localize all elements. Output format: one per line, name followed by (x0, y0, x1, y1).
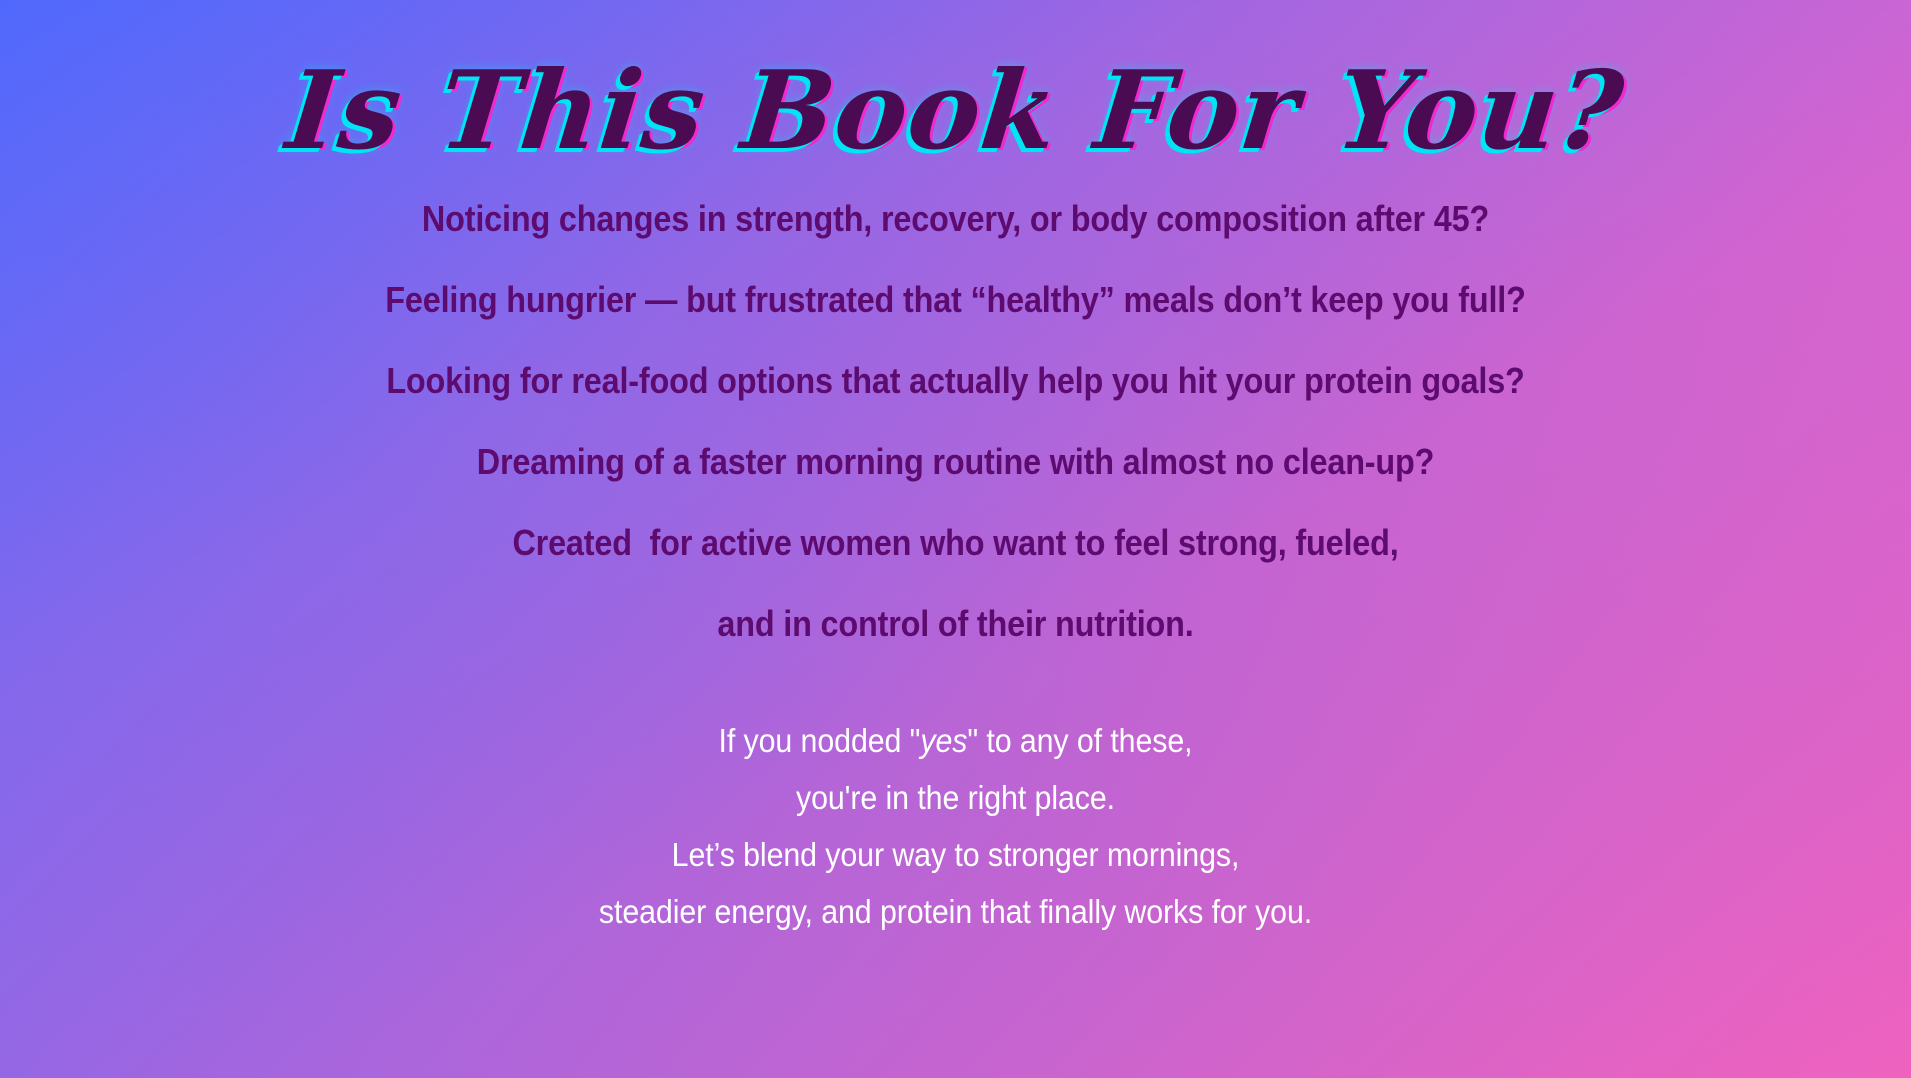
statement-line: Noticing changes in strength, recovery, … (96, 178, 1816, 259)
title-container: Is This Book For You? (0, 48, 1911, 175)
closing-line-2: you're in the right place. (76, 769, 1834, 826)
closing-line-1-suffix: " to any of these, (967, 722, 1192, 759)
statement-line: and in control of their nutrition. (96, 583, 1816, 664)
statement-list: Noticing changes in strength, recovery, … (0, 178, 1911, 664)
closing-line-4: steadier energy, and protein that finall… (76, 883, 1834, 940)
statement-line: Dreaming of a faster morning routine wit… (96, 421, 1816, 502)
statement-line: Looking for real-food options that actua… (96, 340, 1816, 421)
closing-block: If you nodded "yes" to any of these, you… (0, 712, 1911, 940)
statement-line: Feeling hungrier — but frustrated that “… (96, 259, 1816, 340)
closing-line-1: If you nodded "yes" to any of these, (76, 712, 1834, 769)
page-title: Is This Book For You? (281, 48, 1629, 175)
promotional-slide: Is This Book For You? Noticing changes i… (0, 0, 1911, 1078)
statement-line: Created for active women who want to fee… (96, 502, 1816, 583)
closing-line-1-prefix: If you nodded " (719, 722, 921, 759)
closing-line-3: Let’s blend your way to stronger morning… (76, 826, 1834, 883)
closing-line-1-emphasis: yes (920, 722, 967, 759)
